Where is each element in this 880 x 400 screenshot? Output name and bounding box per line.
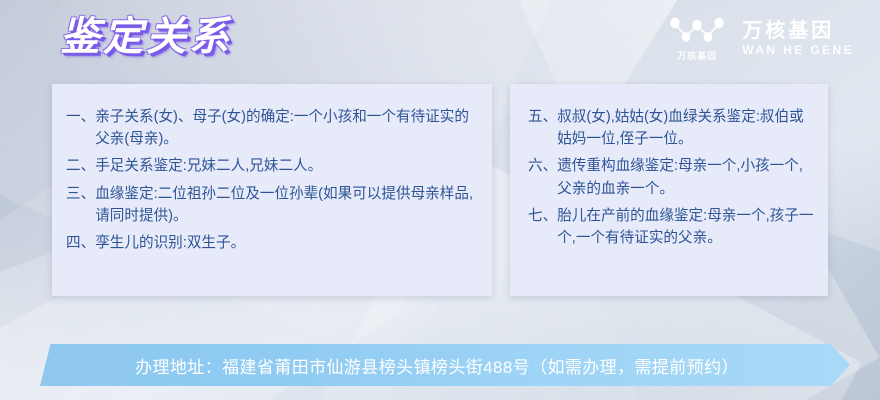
list-item-text: 叔叔(女),姑姑(女)血绿关系鉴定:叔伯或姑妈一位,侄子一位。 [557,106,816,150]
list-item: 二、 手足关系鉴定:兄妹二人,兄妹二人。 [66,155,476,177]
list-item: 四、 孪生儿的识别:双生子。 [66,232,476,254]
list-item-text: 遗传重构血缘鉴定:母亲一个,小孩一个,父亲的血亲一个。 [557,155,816,199]
list-item-text: 孪生儿的识别:双生子。 [95,232,476,254]
list-item: 七、 胎儿在产前的血缘鉴定:母亲一个,孩子一个,一个有待证实的父亲。 [528,205,816,249]
list-item-marker: 五、 [528,106,557,128]
list-item-marker: 四、 [66,232,95,254]
list-item: 一、 亲子关系(女)、母子(女)的确定:一个小孩和一个有待证实的父亲(母亲)。 [66,106,476,150]
panel-left: 一、 亲子关系(女)、母子(女)的确定:一个小孩和一个有待证实的父亲(母亲)。 … [52,84,492,296]
list-item-marker: 二、 [66,155,95,177]
list-item: 六、 遗传重构血缘鉴定:母亲一个,小孩一个,父亲的血亲一个。 [528,155,816,199]
content-panels: 一、 亲子关系(女)、母子(女)的确定:一个小孩和一个有待证实的父亲(母亲)。 … [52,84,828,296]
slide-canvas: 鉴定关系 [0,0,880,400]
list-item-marker: 七、 [528,205,557,227]
brand-mark: 万核基因 [668,16,726,62]
address-text: 办理地址：福建省莆田市仙游县榜头镇榜头街488号（如需办理，需提前预约） [135,353,739,378]
list-item-marker: 一、 [66,106,95,128]
brand-name-cn: 万核基因 [742,20,854,42]
list-item: 三、 血缘鉴定:二位祖孙二位及一位孙辈(如果可以提供母亲样品,请同时提供)。 [66,183,476,227]
panel-right: 五、 叔叔(女),姑姑(女)血绿关系鉴定:叔伯或姑妈一位,侄子一位。 六、 遗传… [510,84,828,296]
page-title: 鉴定关系 [60,10,232,64]
brand-wordmark: 万核基因 WAN HE GENE [742,20,854,57]
brand-name-en: WAN HE GENE [742,44,854,57]
list-item-marker: 六、 [528,155,557,177]
list-item-marker: 三、 [66,183,95,205]
list-item-text: 亲子关系(女)、母子(女)的确定:一个小孩和一个有待证实的父亲(母亲)。 [95,106,476,150]
list-item-text: 血缘鉴定:二位祖孙二位及一位孙辈(如果可以提供母亲样品,请同时提供)。 [95,183,476,227]
list-item-text: 手足关系鉴定:兄妹二人,兄妹二人。 [95,155,476,177]
address-banner: 办理地址：福建省莆田市仙游县榜头镇榜头街488号（如需办理，需提前预约） [40,344,850,386]
list-item: 五、 叔叔(女),姑姑(女)血绿关系鉴定:叔伯或姑妈一位,侄子一位。 [528,106,816,150]
molecule-network-icon [668,16,726,46]
list-item-text: 胎儿在产前的血缘鉴定:母亲一个,孩子一个,一个有待证实的父亲。 [557,205,816,249]
brand-lockup: 万核基因 万核基因 WAN HE GENE [668,16,854,62]
brand-mark-caption: 万核基因 [677,49,717,62]
